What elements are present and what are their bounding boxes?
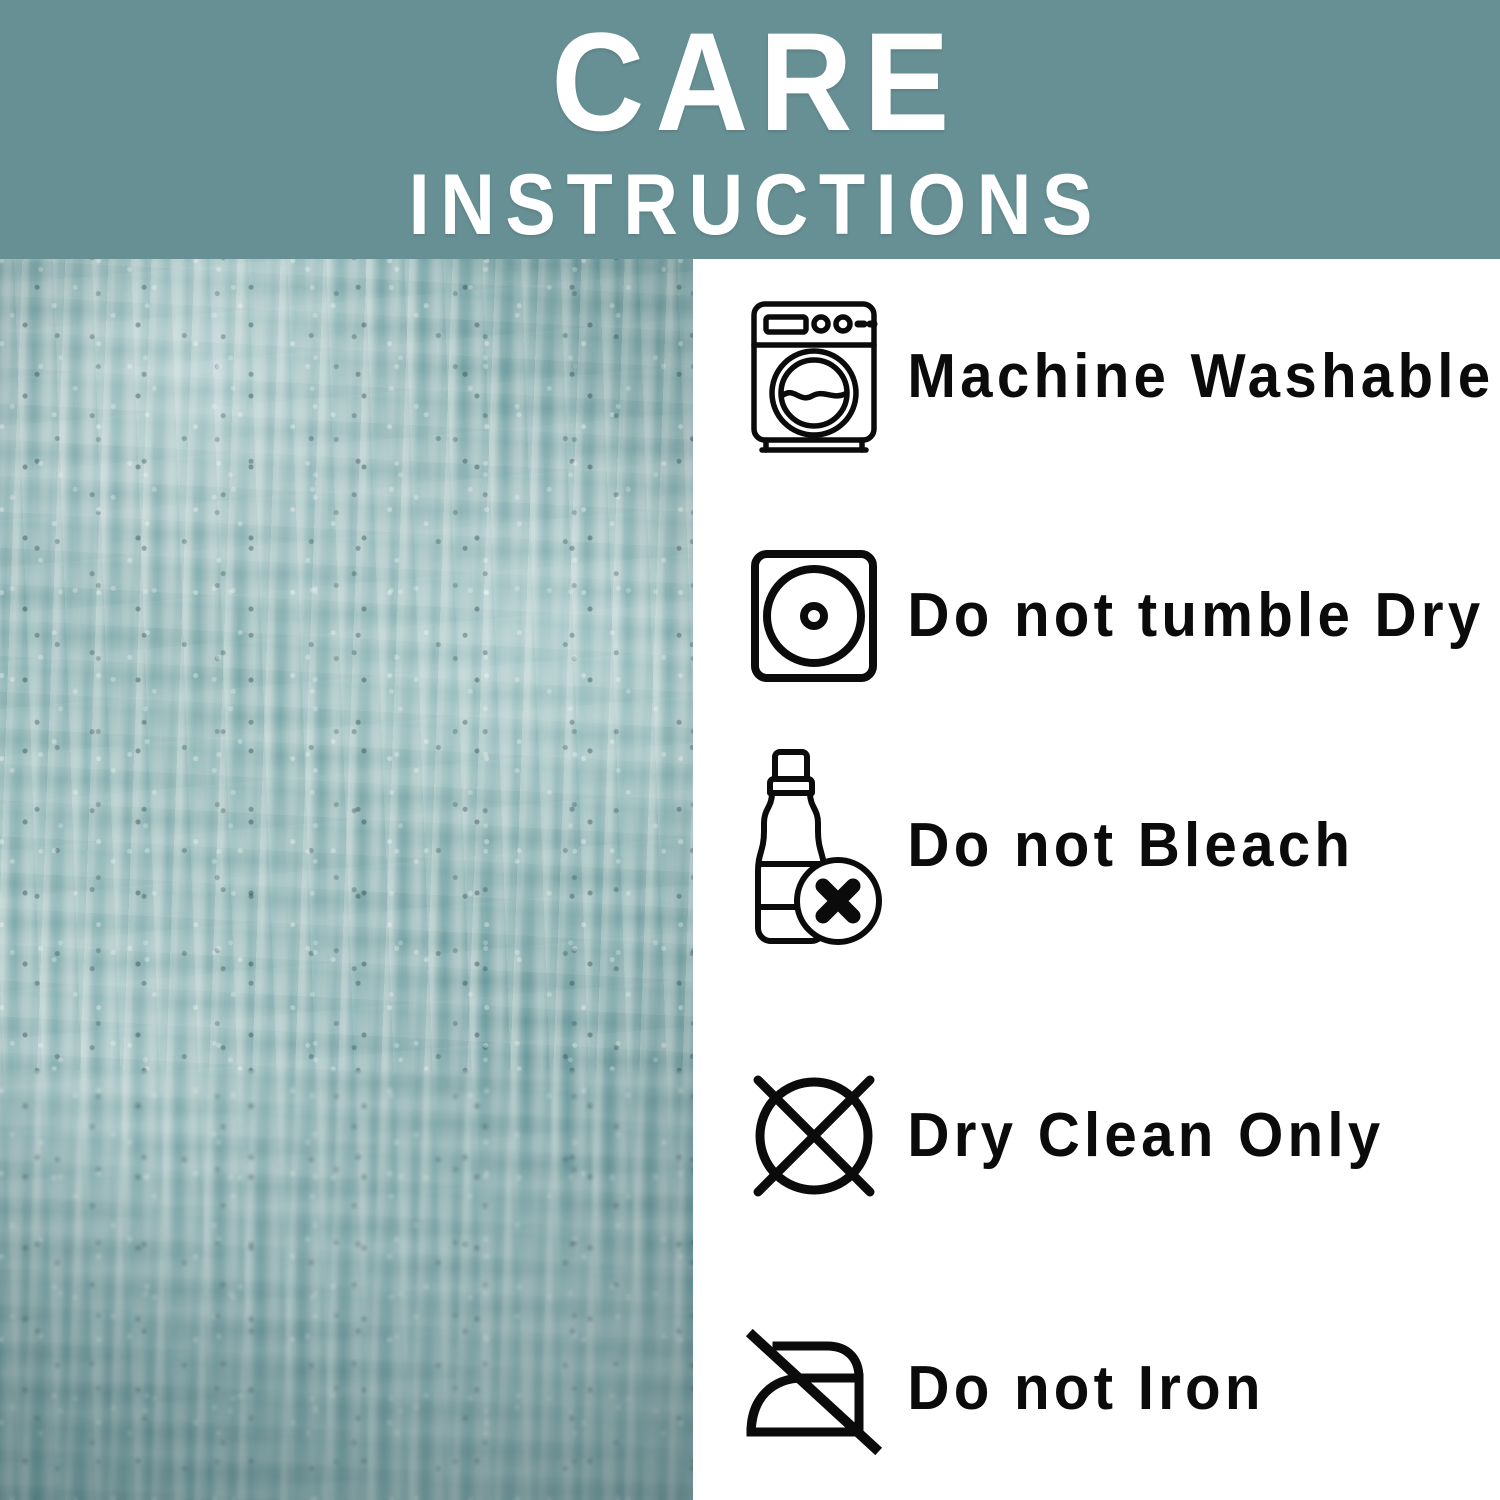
no-iron-icon — [730, 1322, 898, 1456]
instruction-label: Do not Bleach — [898, 815, 1354, 877]
instruction-row-no-iron: Do not Iron — [730, 1301, 1500, 1476]
header-title-block: CARE INSTRUCTIONS — [0, 0, 1500, 259]
washing-machine-icon — [730, 299, 898, 455]
instruction-label: Dry Clean Only — [898, 1105, 1384, 1167]
instruction-label: Do not tumble Dry — [898, 585, 1484, 647]
dry-clean-only-icon — [730, 1066, 898, 1206]
instruction-label: Do not Iron — [898, 1358, 1265, 1420]
instruction-row-no-bleach: Do not Bleach — [730, 737, 1500, 955]
instruction-label: Machine Washable — [898, 346, 1494, 408]
instructions-panel: Machine Washable Do not tumble Dry — [693, 259, 1500, 1500]
header-banner: CARE INSTRUCTIONS — [0, 0, 1500, 259]
instructions-list: Machine Washable Do not tumble Dry — [693, 259, 1500, 1500]
no-bleach-bottle-icon — [730, 744, 898, 948]
product-texture-photo — [0, 259, 693, 1500]
care-instructions-infographic: CARE INSTRUCTIONS — [0, 0, 1500, 1500]
page-title-primary: CARE — [540, 14, 960, 150]
photo-vignette — [0, 259, 693, 1500]
no-tumble-dry-icon — [730, 548, 898, 684]
instruction-row-no-tumble-dry: Do not tumble Dry — [730, 531, 1500, 701]
page-title-secondary: INSTRUCTIONS — [398, 162, 1103, 248]
instruction-row-dry-clean-only: Dry Clean Only — [730, 1041, 1500, 1231]
instruction-row-machine-washable: Machine Washable — [730, 287, 1500, 467]
